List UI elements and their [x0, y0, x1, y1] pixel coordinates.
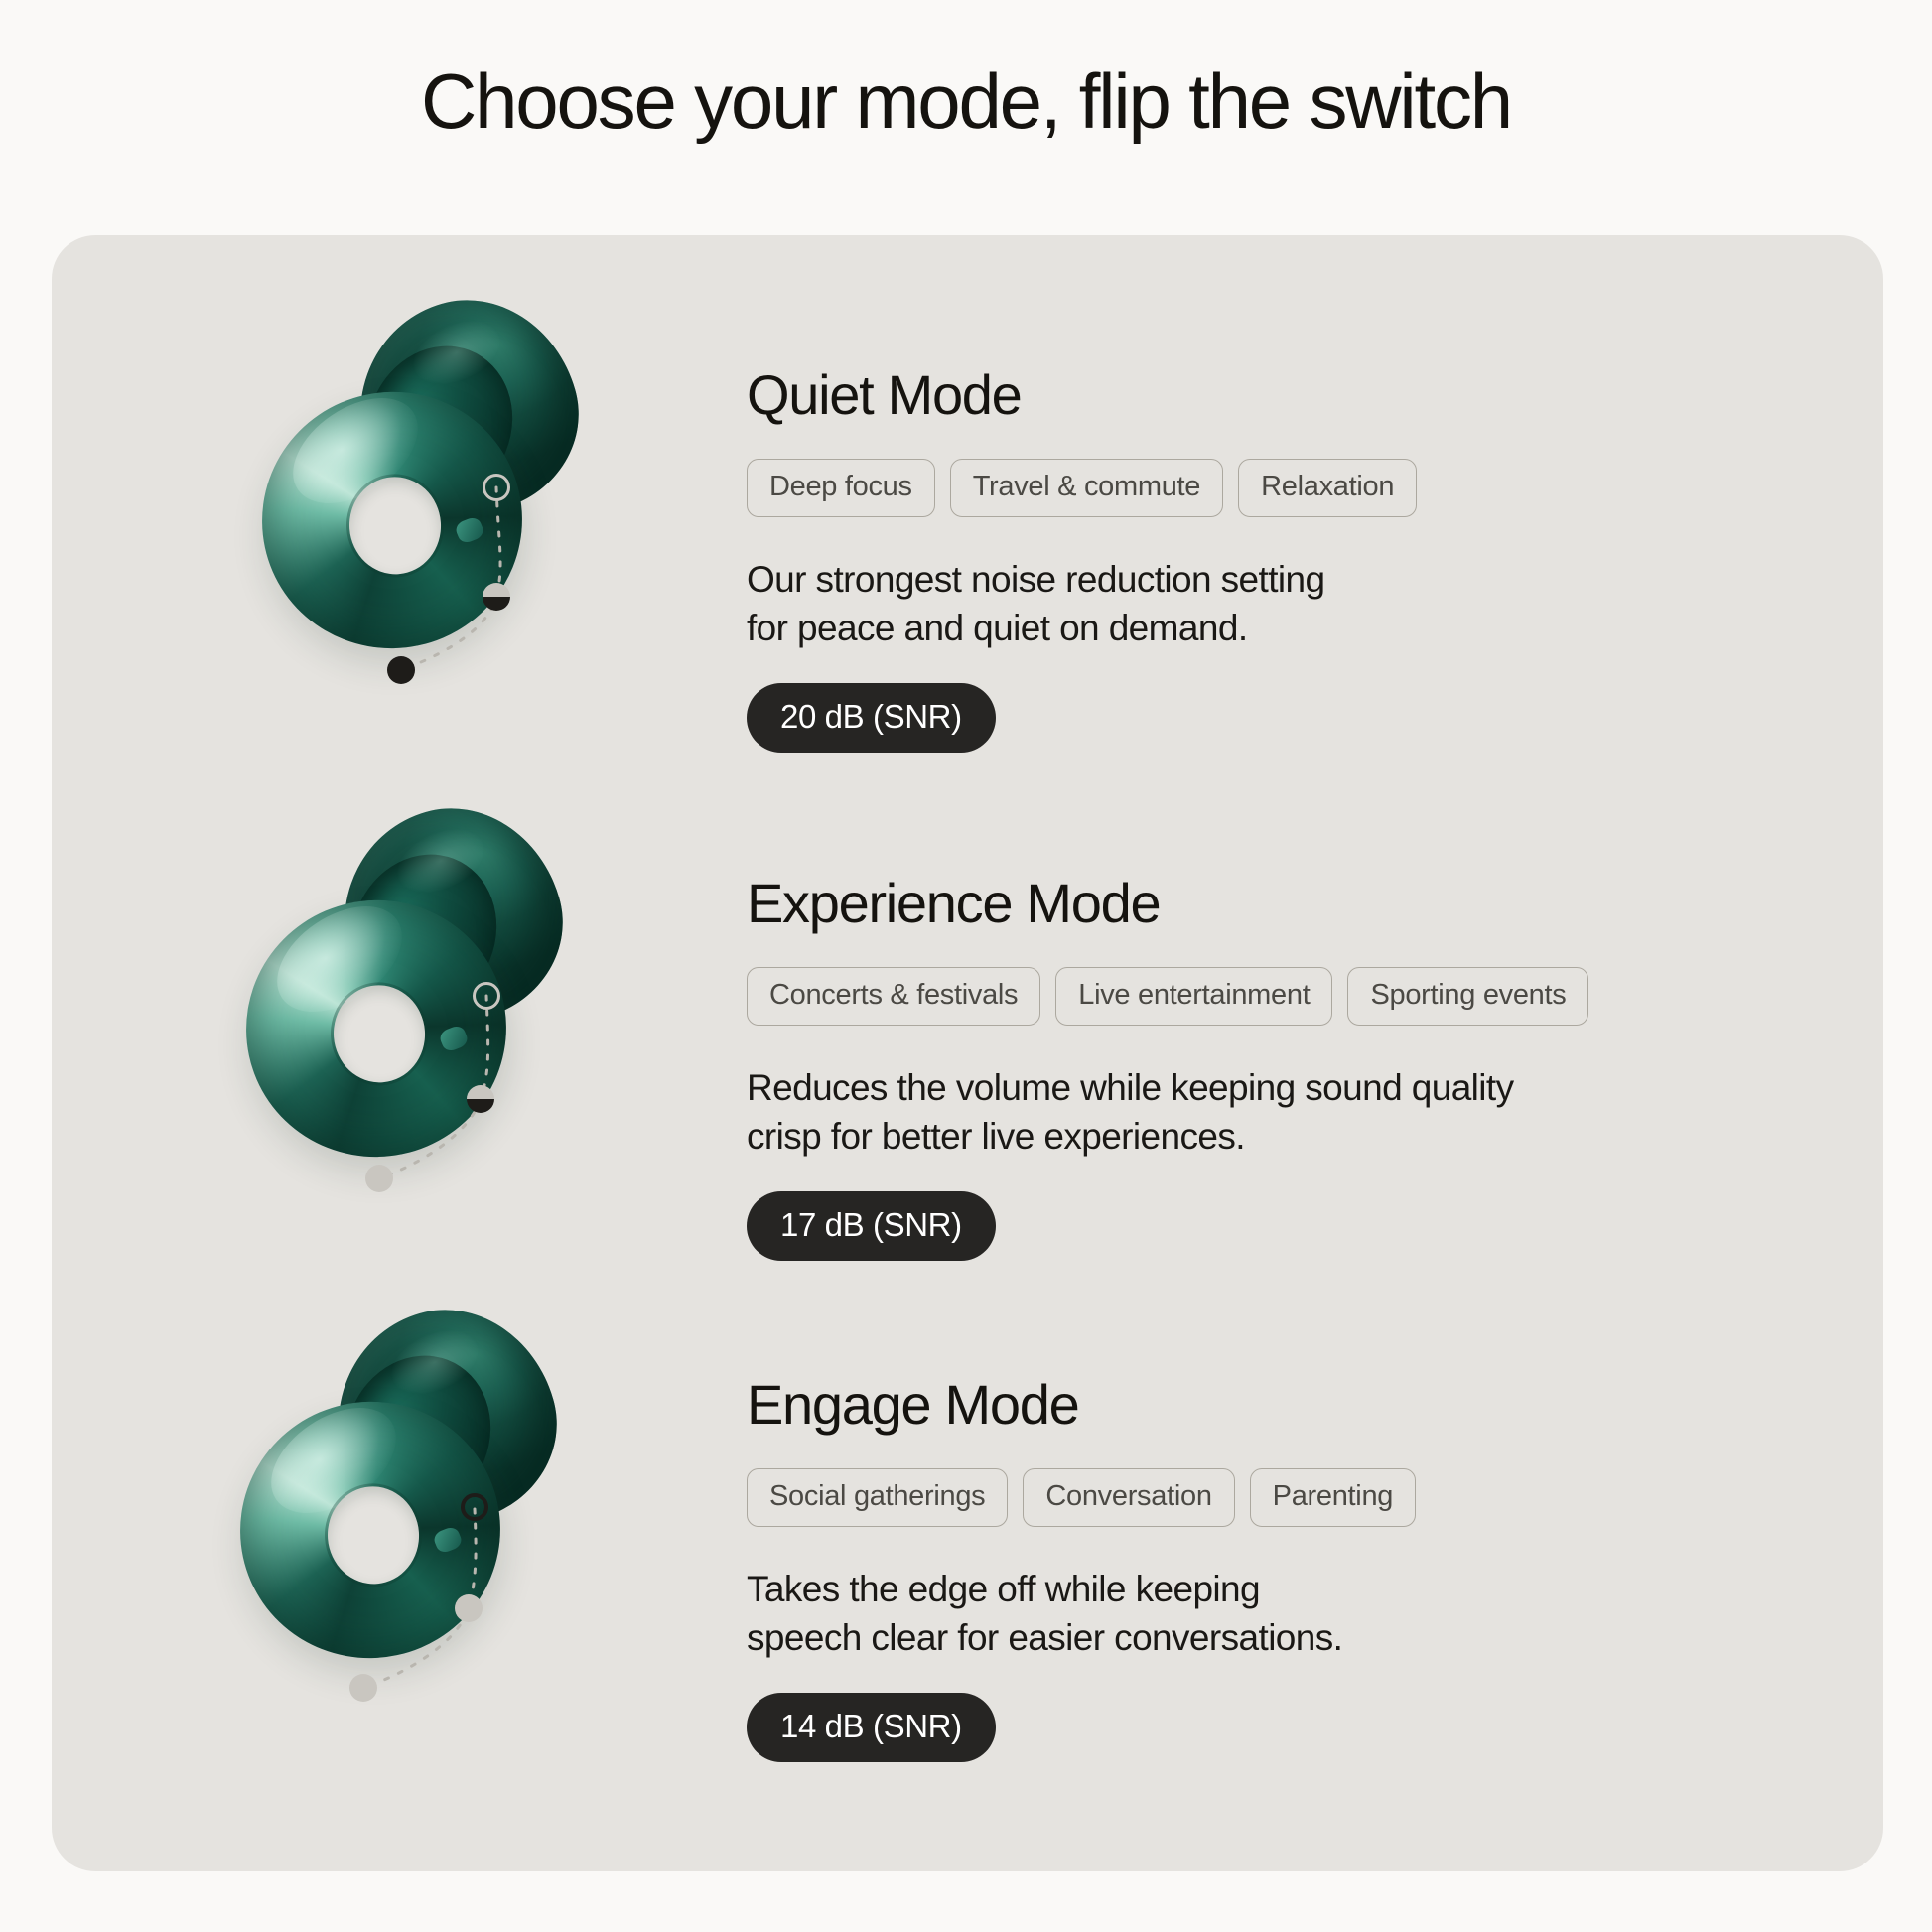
- mode-row-engage[interactable]: Engage Mode Social gatherings Conversati…: [52, 1293, 1883, 1789]
- mode-text-engage: Engage Mode Social gatherings Conversati…: [747, 1293, 1883, 1762]
- indicator-dot-1[interactable]: [461, 1493, 488, 1521]
- mode-visual-quiet: [52, 283, 747, 779]
- modes-card: Quiet Mode Deep focus Travel & commute R…: [52, 235, 1883, 1871]
- tag-chip[interactable]: Concerts & festivals: [747, 967, 1040, 1026]
- tag-chip[interactable]: Parenting: [1250, 1468, 1416, 1527]
- mode-text-quiet: Quiet Mode Deep focus Travel & commute R…: [747, 283, 1883, 753]
- indicator-dot-3[interactable]: [349, 1674, 377, 1702]
- mode-title: Quiet Mode: [747, 366, 1883, 425]
- mode-description: Our strongest noise reduction setting fo…: [747, 555, 1640, 652]
- tag-row: Deep focus Travel & commute Relaxation: [747, 459, 1883, 517]
- mode-level-indicator-icon[interactable]: [479, 472, 608, 700]
- mode-description-line-2: crisp for better live experiences.: [747, 1116, 1245, 1157]
- indicator-dot-3[interactable]: [387, 656, 415, 684]
- indicator-dot-3[interactable]: [365, 1165, 393, 1192]
- mode-description-line-1: Reduces the volume while keeping sound q…: [747, 1067, 1514, 1108]
- tag-chip[interactable]: Deep focus: [747, 459, 935, 517]
- tag-chip[interactable]: Relaxation: [1238, 459, 1417, 517]
- mode-title: Engage Mode: [747, 1376, 1883, 1435]
- mode-visual-experience: [52, 791, 747, 1288]
- db-badge: 14 dB (SNR): [747, 1693, 996, 1762]
- indicator-dot-2[interactable]: [483, 583, 510, 611]
- mode-row-experience[interactable]: Experience Mode Concerts & festivals Liv…: [52, 791, 1883, 1288]
- tag-row: Concerts & festivals Live entertainment …: [747, 967, 1883, 1026]
- mode-description-line-2: for peace and quiet on demand.: [747, 608, 1248, 648]
- mode-description-line-1: Our strongest noise reduction setting: [747, 559, 1324, 600]
- page-title: Choose your mode, flip the switch: [0, 58, 1932, 147]
- mode-text-experience: Experience Mode Concerts & festivals Liv…: [747, 791, 1883, 1261]
- tag-chip[interactable]: Travel & commute: [950, 459, 1223, 517]
- mode-description: Reduces the volume while keeping sound q…: [747, 1063, 1640, 1161]
- tag-chip[interactable]: Conversation: [1023, 1468, 1234, 1527]
- mode-visual-engage: [52, 1293, 747, 1789]
- mode-title: Experience Mode: [747, 875, 1883, 933]
- mode-row-quiet[interactable]: Quiet Mode Deep focus Travel & commute R…: [52, 283, 1883, 779]
- infographic-page: Choose your mode, flip the switch: [0, 0, 1932, 1932]
- indicator-dot-2[interactable]: [455, 1594, 483, 1622]
- mode-level-indicator-icon[interactable]: [467, 980, 596, 1208]
- indicator-dot-1[interactable]: [473, 982, 500, 1010]
- tag-chip[interactable]: Sporting events: [1347, 967, 1588, 1026]
- mode-level-indicator-icon[interactable]: [455, 1491, 584, 1720]
- tag-row: Social gatherings Conversation Parenting: [747, 1468, 1883, 1527]
- indicator-dot-2[interactable]: [467, 1085, 494, 1113]
- tag-chip[interactable]: Social gatherings: [747, 1468, 1008, 1527]
- mode-description: Takes the edge off while keeping speech …: [747, 1565, 1640, 1662]
- db-badge: 20 dB (SNR): [747, 683, 996, 753]
- db-badge: 17 dB (SNR): [747, 1191, 996, 1261]
- mode-description-line-2: speech clear for easier conversations.: [747, 1617, 1342, 1658]
- tag-chip[interactable]: Live entertainment: [1055, 967, 1332, 1026]
- indicator-dot-1[interactable]: [483, 474, 510, 501]
- mode-description-line-1: Takes the edge off while keeping: [747, 1569, 1260, 1609]
